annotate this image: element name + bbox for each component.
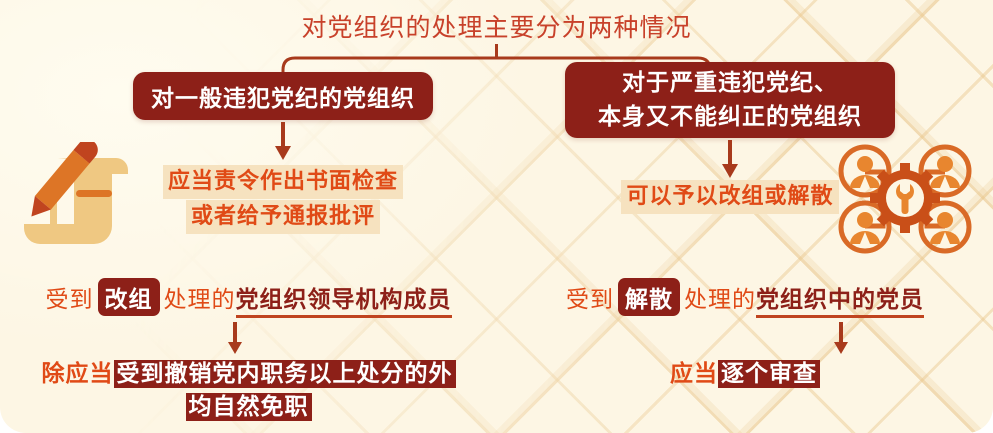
page-title: 对党组织的处理主要分为两种情况	[0, 8, 993, 44]
right-result-block: 应当逐个审查	[497, 358, 993, 391]
left-member-target: 党组织领导机构成员	[236, 287, 452, 318]
left-member-row: 受到改组处理的党组织领导机构成员	[0, 278, 497, 316]
left-result-line1: 除应当受到撤销党内职务以上处分的外	[0, 358, 497, 391]
infographic-canvas: 对党组织的处理主要分为两种情况 对一般违犯党纪的党组织 对于严重违犯党纪、 本身…	[0, 0, 993, 433]
right-down-arrow-2	[826, 322, 856, 356]
right-member-row: 受到解散处理的党组织中的党员	[497, 278, 993, 316]
right-member-badge[interactable]: 解散	[618, 278, 680, 316]
left-action-line2: 或者给予通报批评	[186, 200, 380, 234]
left-down-arrow-1	[265, 122, 301, 162]
right-result-highlight1: 逐个审查	[718, 360, 820, 388]
left-down-arrow-2	[220, 322, 250, 356]
left-result-highlight2: 均自然免职	[186, 393, 312, 421]
left-result-block: 除应当受到撤销党内职务以上处分的外 均自然免职	[0, 358, 497, 424]
right-member-target: 党组织中的党员	[756, 287, 924, 318]
right-result-plain1: 应当	[670, 361, 718, 387]
left-action-line1: 应当责令作出书面检查	[163, 165, 403, 199]
left-condition-box[interactable]: 对一般违犯党纪的党组织	[133, 72, 433, 120]
left-condition-text: 对一般违犯党纪的党组织	[151, 79, 415, 113]
right-action-line1: 可以予以改组或解散	[621, 180, 838, 214]
org-restructure-gear-icon	[832, 140, 978, 256]
left-result-plain1: 除应当	[42, 361, 114, 387]
right-condition-box[interactable]: 对于严重违犯党纪、 本身又不能纠正的党组织	[565, 62, 895, 138]
left-member-middle: 处理的	[164, 287, 236, 313]
right-member-middle: 处理的	[684, 287, 756, 313]
right-result-line1: 应当逐个审查	[497, 358, 993, 391]
right-condition-line1: 对于严重违犯党纪、	[622, 66, 838, 100]
left-member-badge[interactable]: 改组	[98, 278, 160, 316]
left-member-prefix: 受到	[46, 287, 94, 313]
left-result-line2: 均自然免职	[0, 391, 497, 424]
right-condition-line2: 本身又不能纠正的党组织	[598, 100, 862, 134]
left-action-block: 应当责令作出书面检查 或者给予通报批评	[133, 165, 433, 235]
left-result-highlight1: 受到撤销党内职务以上处分的外	[114, 360, 456, 388]
right-member-prefix: 受到	[566, 287, 614, 313]
document-pencil-icon	[14, 142, 140, 254]
right-down-arrow-1	[712, 140, 748, 180]
